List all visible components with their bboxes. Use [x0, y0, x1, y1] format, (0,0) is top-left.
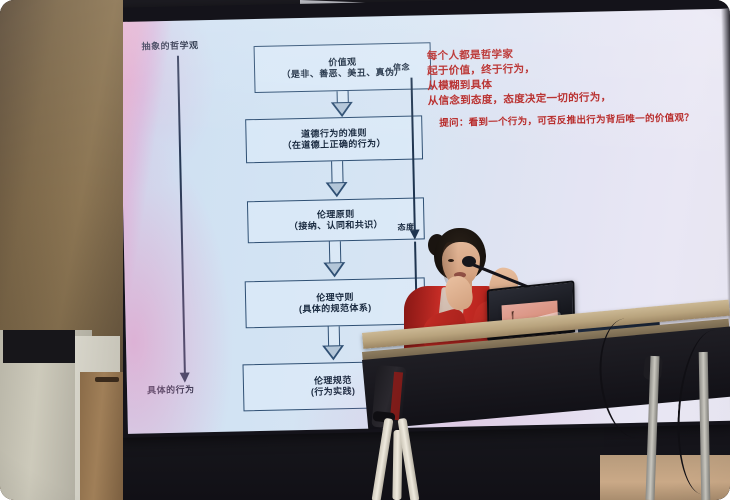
lecture-photo: 抽象的哲学观 具体的行为 价值观 （是非、善恶、美丑、真伪） 道德行为的准则 （… [0, 0, 730, 500]
wainscot-dark-inset [3, 330, 75, 363]
right-axis-top-label: 信念 [393, 62, 410, 73]
left-eye [448, 259, 454, 262]
microphone-head-icon [462, 256, 476, 267]
flow-box-values-line2: （是非、善恶、美丑、真伪） [281, 66, 403, 79]
flow-box-code-line2: (具体的规范体系) [299, 302, 372, 314]
flow-box-practice-line2: (行为实践) [311, 385, 356, 397]
flow-box-practice-line1: 伦理规范 [314, 375, 352, 386]
flow-box-moral-standard: 道德行为的准则 （在道德上正确的行为） [245, 115, 423, 163]
flow-arrow-4-icon [322, 326, 345, 360]
flow-box-values-line1: 价值观 [328, 57, 356, 68]
flow-box-principle-line2: （接纳、认同和共识） [289, 219, 383, 232]
flow-box-principle-line1: 伦理原则 [317, 209, 355, 220]
annotation-question: 提问：看到一个行为，可否反推出行为背后唯一的价值观？ [428, 111, 718, 131]
left-axis-bottom-label: 具体的行为 [147, 382, 195, 396]
left-axis-arrowhead-icon [180, 373, 190, 383]
door-panel [80, 372, 123, 500]
slide-annotation: 每个人都是哲学家 起于价值，终于行为， 从模糊到具体 从信念到态度，态度决定一切… [427, 43, 719, 130]
left-axis-line [177, 56, 186, 381]
flow-box-moral-line2: （在道德上正确的行为） [282, 138, 386, 151]
flow-arrow-3-icon [323, 241, 346, 277]
flow-arrow-1-icon [331, 91, 354, 117]
door-handle [95, 377, 119, 382]
left-axis-arrow [178, 56, 185, 381]
left-axis-top-label: 抽象的哲学观 [141, 38, 198, 52]
flow-arrow-2-icon [325, 161, 348, 197]
